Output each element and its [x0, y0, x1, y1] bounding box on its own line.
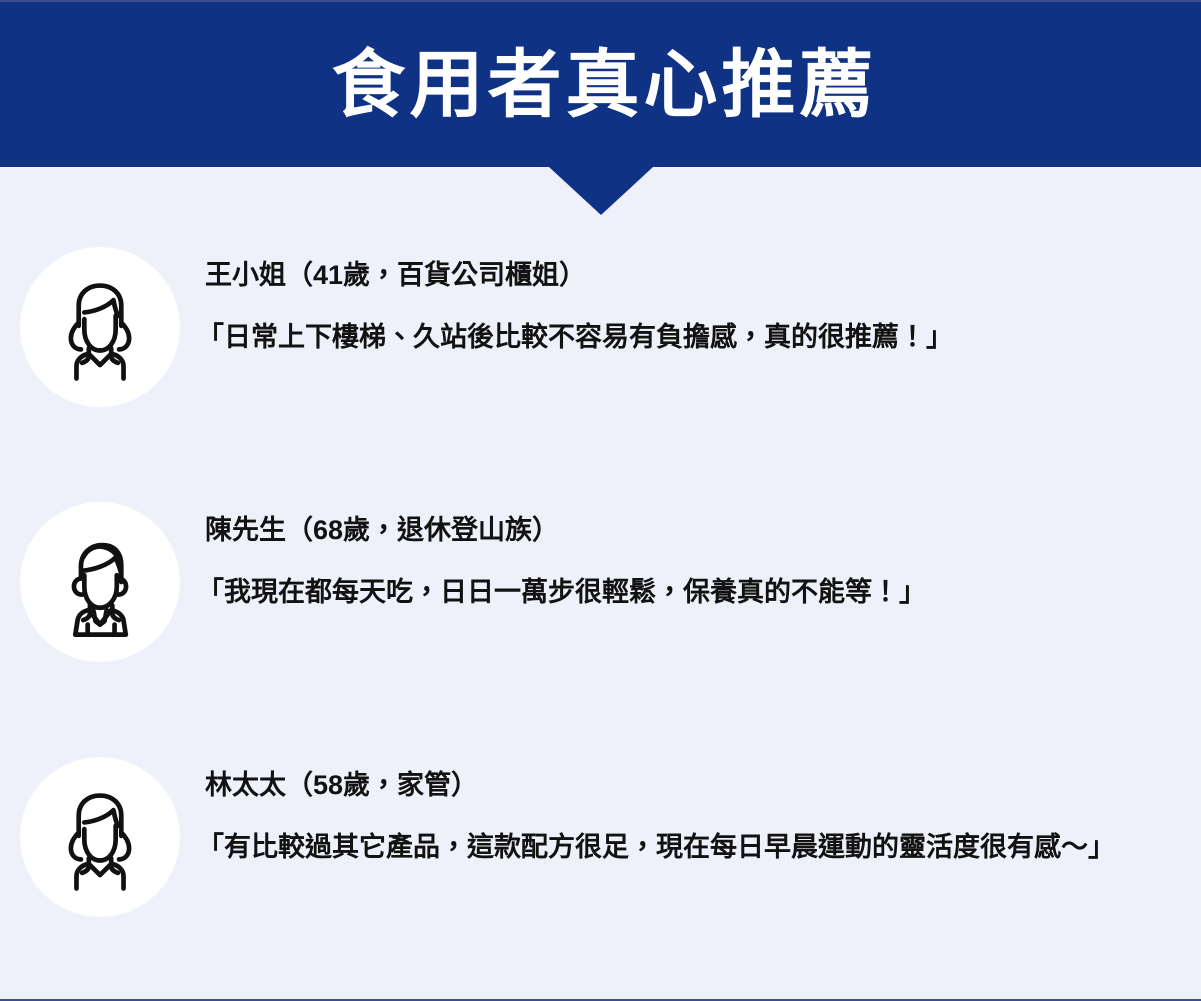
testimonial-text: 王小姐（41歲，百貨公司櫃姐） 「日常上下樓梯、久站後比較不容易有負擔感，真的很…: [180, 227, 1201, 355]
female-avatar-icon: [44, 781, 156, 893]
avatar: [20, 757, 180, 917]
testimonial-name: 王小姐（41歲，百貨公司櫃姐）: [205, 259, 1195, 293]
testimonial-item: 林太太（58歲，家管） 「有比較過其它產品，這款配方很足，現在每日早晨運動的靈活…: [0, 737, 1201, 992]
page-title: 食用者真心推薦: [324, 48, 878, 122]
testimonial-item: 陳先生（68歲，退休登山族） 「我現在都每天吃，日日一萬步很輕鬆，保養真的不能等…: [0, 482, 1201, 737]
testimonial-text: 林太太（58歲，家管） 「有比較過其它產品，這款配方很足，現在每日早晨運動的靈活…: [180, 737, 1201, 865]
avatar: [20, 502, 180, 662]
male-avatar-icon: [44, 526, 156, 638]
banner-down-arrow-icon: [549, 167, 653, 215]
testimonial-list: 王小姐（41歲，百貨公司櫃姐） 「日常上下樓梯、久站後比較不容易有負擔感，真的很…: [0, 227, 1201, 992]
testimonials-page: { "theme": { "banner_bg": "#0f3285", "pa…: [0, 0, 1201, 1001]
female-avatar-icon: [44, 271, 156, 383]
testimonial-name: 陳先生（68歲，退休登山族）: [205, 514, 1195, 548]
testimonial-text: 陳先生（68歲，退休登山族） 「我現在都每天吃，日日一萬步很輕鬆，保養真的不能等…: [180, 482, 1201, 610]
testimonial-quote: 「日常上下樓梯、久站後比較不容易有負擔感，真的很推薦！」: [197, 321, 1195, 355]
testimonial-quote: 「有比較過其它產品，這款配方很足，現在每日早晨運動的靈活度很有感～」: [197, 831, 1195, 865]
testimonial-name: 林太太（58歲，家管）: [205, 769, 1195, 803]
page-header-banner: 食用者真心推薦: [0, 2, 1201, 167]
testimonial-item: 王小姐（41歲，百貨公司櫃姐） 「日常上下樓梯、久站後比較不容易有負擔感，真的很…: [0, 227, 1201, 482]
avatar: [20, 247, 180, 407]
testimonial-quote: 「我現在都每天吃，日日一萬步很輕鬆，保養真的不能等！」: [197, 576, 1195, 610]
